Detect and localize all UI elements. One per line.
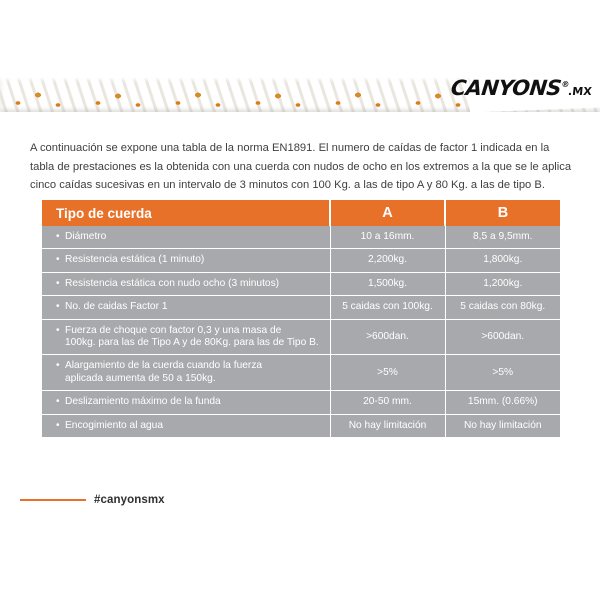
row-label-text: Diámetro	[65, 231, 106, 243]
intro-paragraph: A continuación se expone una tabla de la…	[30, 139, 575, 195]
row-label-cell: •Resistencia estática (1 minuto)	[42, 249, 330, 272]
row-label-text: Resistencia estática con nudo ocho (3 mi…	[65, 278, 279, 290]
table-row: •Fuerza de choque con factor 0,3 y una m…	[42, 319, 560, 355]
rope-spec-table: Tipo de cuerda A B •Diámetro 10 a 16mm. …	[42, 200, 560, 437]
table-row: •No. de caidas Factor 1 5 caidas con 100…	[42, 296, 560, 319]
row-label-line1: Resistencia estática con nudo ocho (3 mi…	[65, 278, 279, 289]
bullet-icon: •	[56, 360, 65, 372]
header-column-a: A	[330, 200, 445, 226]
bullet-icon: •	[56, 396, 65, 408]
row-value-a: >5%	[330, 355, 445, 391]
row-label-line1: Alargamiento de la cuerda cuando la fuer…	[65, 360, 262, 371]
logo-suffix: .MX	[567, 85, 592, 98]
footer-hashtag: #canyonsmx	[94, 494, 165, 506]
header-column-b: B	[445, 200, 560, 226]
row-label-text: No. de caidas Factor 1	[65, 301, 168, 313]
row-value-a: No hay limitación	[330, 414, 445, 437]
row-value-a: 2,200kg.	[330, 249, 445, 272]
bullet-icon: •	[56, 420, 65, 432]
row-label-line2: aplicada aumenta de 50 a 150kg.	[65, 373, 262, 385]
row-value-a: 10 a 16mm.	[330, 226, 445, 249]
row-value-b: 1,800kg.	[445, 249, 560, 272]
bullet-icon: •	[56, 278, 65, 290]
table-row: •Diámetro 10 a 16mm. 8,5 a 9,5mm.	[42, 226, 560, 249]
row-label-line1: Encogimiento al agua	[65, 420, 163, 431]
row-label-cell: •Resistencia estática con nudo ocho (3 m…	[42, 272, 330, 295]
row-value-b: >5%	[445, 355, 560, 391]
row-value-b: 5 caidas con 80kg.	[445, 296, 560, 319]
bullet-icon: •	[56, 254, 65, 266]
row-value-b: 15mm. (0.66%)	[445, 391, 560, 414]
row-label-line1: Diámetro	[65, 231, 106, 242]
row-label-cell: •Encogimiento al agua	[42, 414, 330, 437]
row-value-a: 20-50 mm.	[330, 391, 445, 414]
row-label-line1: No. de caidas Factor 1	[65, 301, 168, 312]
row-value-b: No hay limitación	[445, 414, 560, 437]
row-label-cell: •No. de caidas Factor 1	[42, 296, 330, 319]
row-value-b: 1,200kg.	[445, 272, 560, 295]
bullet-icon: •	[56, 231, 65, 243]
row-label-text: Alargamiento de la cuerda cuando la fuer…	[65, 360, 262, 385]
row-value-a: >600dan.	[330, 319, 445, 355]
table-row: •Resistencia estática con nudo ocho (3 m…	[42, 272, 560, 295]
row-label-line1: Deslizamiento máximo de la funda	[65, 396, 221, 407]
row-label-text: Encogimiento al agua	[65, 420, 163, 432]
table-row: •Encogimiento al agua No hay limitación …	[42, 414, 560, 437]
row-label-text: Deslizamiento máximo de la funda	[65, 396, 221, 408]
row-label-cell: •Diámetro	[42, 226, 330, 249]
row-label-line1: Resistencia estática (1 minuto)	[65, 254, 204, 265]
rope-banner: CANYONS®.MX	[0, 60, 600, 120]
footer-rule-divider	[20, 499, 86, 502]
header-spec: Tipo de cuerda	[42, 200, 330, 226]
table-row: •Resistencia estática (1 minuto) 2,200kg…	[42, 249, 560, 272]
table-body: •Diámetro 10 a 16mm. 8,5 a 9,5mm. •Resis…	[42, 226, 560, 437]
row-label-text: Fuerza de choque con factor 0,3 y una ma…	[65, 325, 319, 350]
logo-wordmark: CANYONS	[450, 76, 563, 100]
row-value-a: 1,500kg.	[330, 272, 445, 295]
row-label-cell: •Fuerza de choque con factor 0,3 y una m…	[42, 319, 330, 355]
row-value-a: 5 caidas con 100kg.	[330, 296, 445, 319]
canyons-logo: CANYONS®.MX	[450, 76, 594, 100]
bullet-icon: •	[56, 325, 65, 337]
table-header-row: Tipo de cuerda A B	[42, 200, 560, 226]
table-head: Tipo de cuerda A B	[42, 200, 560, 226]
row-label-cell: •Deslizamiento máximo de la funda	[42, 391, 330, 414]
bullet-icon: •	[56, 301, 65, 313]
row-value-b: >600dan.	[445, 319, 560, 355]
row-label-text: Resistencia estática (1 minuto)	[65, 254, 204, 266]
row-label-line2: 100kg. para las de Tipo A y de 80Kg. par…	[65, 337, 319, 349]
table-row: •Deslizamiento máximo de la funda 20-50 …	[42, 391, 560, 414]
footer: #canyonsmx	[20, 494, 165, 506]
row-label-line1: Fuerza de choque con factor 0,3 y una ma…	[65, 325, 281, 336]
table-row: •Alargamiento de la cuerda cuando la fue…	[42, 355, 560, 391]
row-value-b: 8,5 a 9,5mm.	[445, 226, 560, 249]
row-label-cell: •Alargamiento de la cuerda cuando la fue…	[42, 355, 330, 391]
